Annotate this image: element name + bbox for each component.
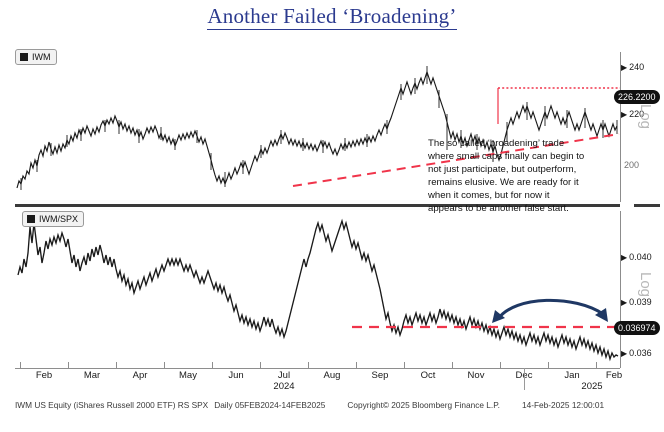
x-tick [212, 362, 213, 368]
legend-chip-iwm[interactable]: IWM [15, 49, 57, 65]
x-tick [260, 362, 261, 368]
annotation-line-2: where small caps finally can begin to [428, 150, 613, 163]
x-label-mar: Mar [84, 370, 100, 381]
tick-arrow-icon: ▶ [621, 349, 627, 358]
x-tick [164, 362, 165, 368]
annotation-line-1: The so called ‘broadening’ trade [428, 137, 613, 150]
year-separator [524, 368, 525, 390]
x-tick [452, 362, 453, 368]
footer-period: Daily 05FEB2024-14FEB2025 [214, 400, 325, 410]
x-label-jun: Jun [228, 370, 243, 381]
annotation-line-5: when it comes, but for now it [428, 189, 613, 202]
footer-timestamp: 14-Feb-2025 12:00:01 [522, 400, 604, 410]
annotation-line-4: remains elusive. We are ready for it [428, 176, 613, 189]
x-tick [116, 362, 117, 368]
x-label-aug: Aug [324, 370, 341, 381]
panel-divider-right [634, 204, 660, 207]
x-label-may: May [179, 370, 197, 381]
footer-spacer [331, 400, 341, 410]
ratio-line [18, 221, 618, 359]
x-label-jan: Jan [564, 370, 579, 381]
x-label-year-2024: 2024 [273, 381, 294, 392]
legend-label: IWM [32, 52, 51, 62]
footer: IWM US Equity (iShares Russell 2000 ETF)… [15, 400, 655, 410]
x-label-oct: Oct [421, 370, 436, 381]
x-axis-line [15, 368, 620, 369]
x-tick [308, 362, 309, 368]
tick-arrow-icon: ▶ [621, 253, 627, 262]
ratio-chart-panel [15, 209, 620, 367]
x-tick [20, 362, 21, 368]
annotation-line-3: not just participate, but outperform, [428, 163, 613, 176]
tick-arrow-icon: ▶ [621, 298, 627, 307]
x-label-feb-2024: Feb [36, 370, 52, 381]
ratio-axis-tick-0036: ▶0.036 [621, 348, 652, 358]
x-label-jul: Jul [278, 370, 290, 381]
price-last-value-tag: 226.2200 [614, 90, 660, 104]
x-tick [68, 362, 69, 368]
price-axis-line [620, 52, 621, 202]
legend-chip-iwm-spx[interactable]: IWM/SPX [22, 211, 84, 227]
page-title-text: Another Failed ‘Broadening’ [207, 4, 456, 30]
ratio-last-value-tag: 0.036974 [614, 321, 660, 335]
legend-swatch-icon [27, 215, 35, 223]
legend-label: IWM/SPX [39, 214, 78, 224]
price-axis-tick-200: 200 [624, 160, 639, 170]
ratio-axis-scale-label: Log [637, 272, 654, 297]
x-tick [500, 362, 501, 368]
x-label-apr: Apr [133, 370, 148, 381]
ratio-chart-svg [15, 209, 620, 367]
ratio-axis-tick-0040: ▶0.040 [621, 252, 652, 262]
x-tick [404, 362, 405, 368]
tick-arrow-icon: ▶ [621, 63, 627, 72]
chart-screenshot: Another Failed ‘Broadening’ [0, 0, 664, 432]
tick-arrow-icon: ▶ [621, 110, 627, 119]
footer-security: IWM US Equity (iShares Russell 2000 ETF)… [15, 400, 208, 410]
price-axis-scale-label: Log [637, 104, 654, 129]
x-tick [596, 362, 597, 368]
page-title: Another Failed ‘Broadening’ [0, 4, 664, 29]
footer-spacer [506, 400, 516, 410]
x-tick [548, 362, 549, 368]
price-axis-tick-240: ▶240 [621, 62, 644, 72]
annotation-text: The so called ‘broadening’ trade where s… [428, 137, 613, 216]
x-tick [356, 362, 357, 368]
legend-swatch-icon [20, 53, 28, 61]
ratio-axis-line [620, 211, 621, 368]
x-label-nov: Nov [468, 370, 485, 381]
arc-arrow [498, 300, 603, 319]
ratio-axis-tick-0039: ▶0.039 [621, 297, 652, 307]
x-label-sep: Sep [372, 370, 389, 381]
x-label-feb-2025: Feb [606, 370, 622, 381]
x-label-year-2025: 2025 [581, 381, 602, 392]
footer-copyright: Copyright© 2025 Bloomberg Finance L.P. [347, 400, 500, 410]
